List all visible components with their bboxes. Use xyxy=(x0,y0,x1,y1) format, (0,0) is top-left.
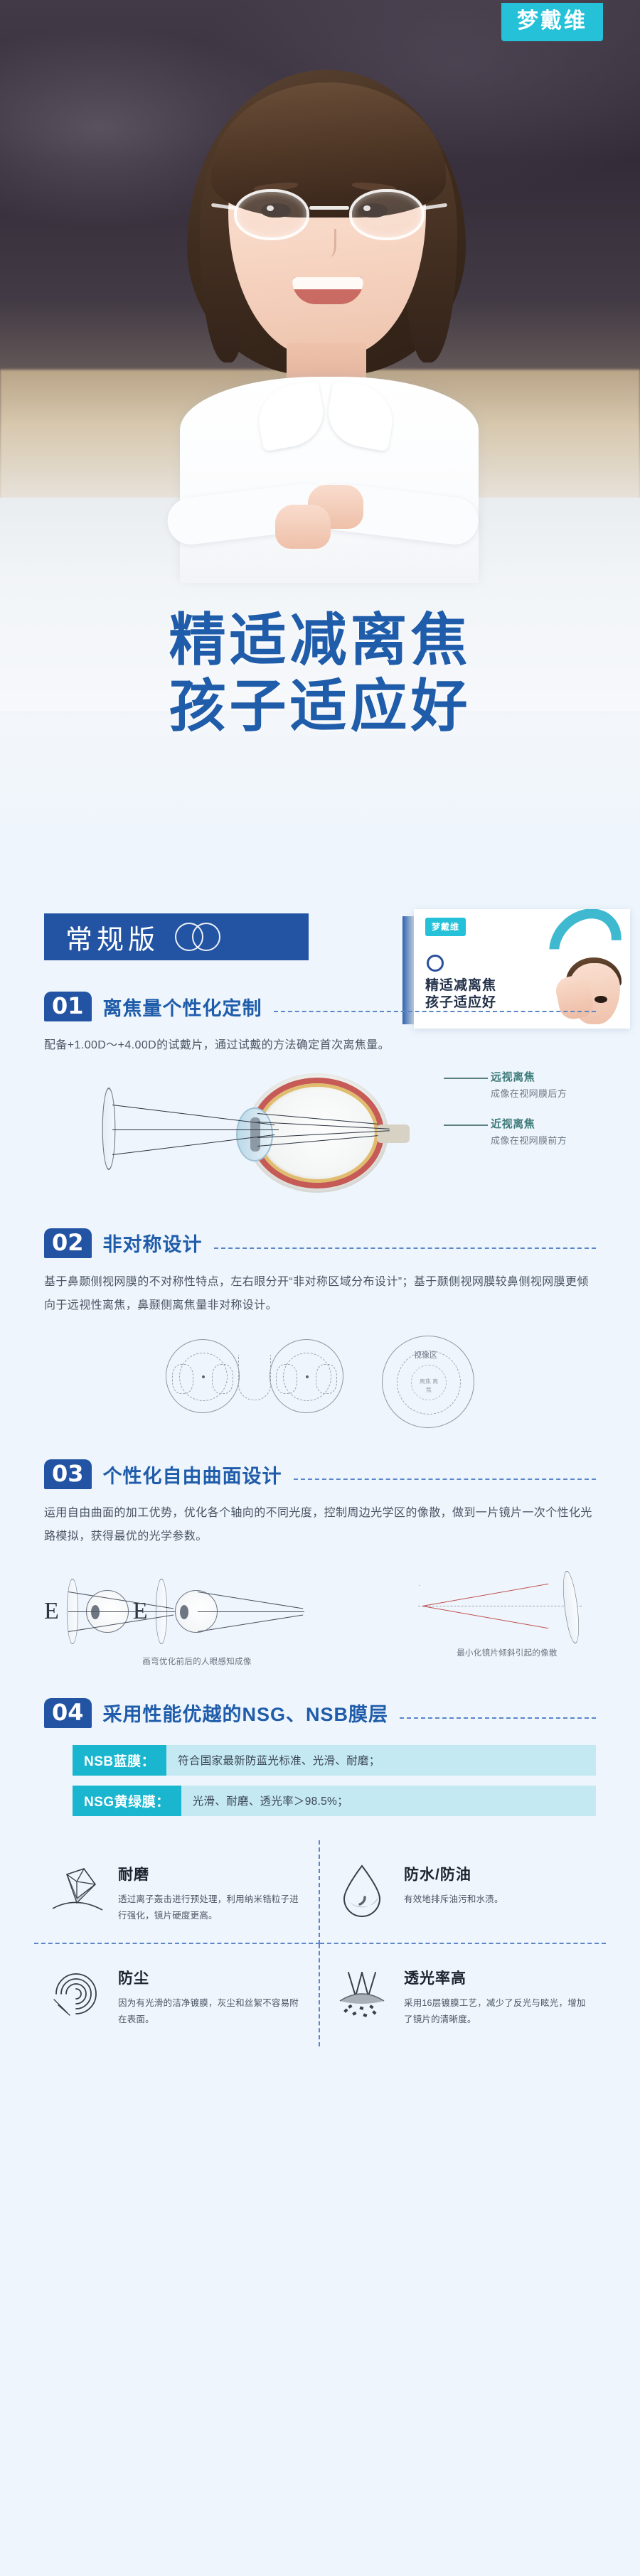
hero-child-photo xyxy=(174,64,480,576)
trial-lens-icon xyxy=(102,1088,116,1170)
section-03: 03 个性化自由曲面设计 运用自由曲面的加工优势，优化各个轴向的不同光度，控制周… xyxy=(44,1459,596,1667)
box-brand-logo-text: 梦戴维 xyxy=(432,922,459,932)
section-03-body: 运用自由曲面的加工优势，优化各个轴向的不同光度，控制周边光学区的像散，做到一片镜… xyxy=(44,1502,596,1549)
feature-title-dustproof: 防尘 xyxy=(118,1967,307,1988)
light-transmission-icon xyxy=(331,1963,393,2024)
film-value-nsb: 符合国家最新防蓝光标准、光滑、耐磨； xyxy=(166,1745,596,1776)
feature-cell-transmission: 透光率高 采用16层镀膜工艺，减少了反光与眩光，增加了镜片的清晰度。 xyxy=(320,1944,606,2046)
hero-title-line2: 孩子适应好 xyxy=(0,674,640,740)
feature-desc-dustproof: 因为有光滑的洁净镀膜，灰尘和丝絮不容易附在表面。 xyxy=(118,1995,307,2028)
freeform-caption-left: 画弯优化前后的人眼感知成像 xyxy=(44,1655,350,1667)
water-drop-icon xyxy=(331,1859,393,1920)
divider-dashed xyxy=(294,1478,596,1480)
section-04: 04 采用性能优越的NSG、NSB膜层 NSB蓝膜： 符合国家最新防蓝光标准、光… xyxy=(44,1698,596,1816)
feature-title-abrasion: 耐磨 xyxy=(118,1863,307,1884)
feature-desc-transmission: 采用16层镀膜工艺，减少了反光与眩光，增加了镜片的清晰度。 xyxy=(404,1995,594,2028)
section-03-number: 03 xyxy=(44,1459,92,1489)
label-hyperopic-defocus: 远视离焦 成像在视网膜后方 xyxy=(491,1069,567,1100)
feature-cell-dustproof: 防尘 因为有光滑的洁净镀膜，灰尘和丝絮不容易附在表面。 xyxy=(34,1944,320,2046)
section-02-head: 02 非对称设计 xyxy=(44,1228,596,1258)
hyperopic-defocus-title: 远视离焦 xyxy=(491,1069,567,1084)
diamond-icon xyxy=(46,1859,107,1920)
brand-logo: 梦戴维 xyxy=(501,3,603,41)
content-area: 常规版 梦戴维 精适减离焦 孩子适应好 xyxy=(0,913,640,2054)
hero-title: 精适减离焦 孩子适应好 xyxy=(0,608,640,740)
version-label: 常规版 xyxy=(65,918,159,957)
overlapping-lens-icon xyxy=(175,923,222,951)
eye-focus-diagram: 远视离焦 成像在视网膜后方 近视离焦 成像在视网膜前方 xyxy=(44,1062,596,1197)
spectacle-zones-icon xyxy=(166,1339,343,1424)
eyeglasses-icon xyxy=(234,189,425,240)
film-value-nsg: 光滑、耐磨、透光率＞98.5%； xyxy=(181,1786,596,1816)
hero-title-line1: 精适减离焦 xyxy=(0,608,640,674)
section-01: 01 离焦量个性化定制 配备+1.00D～+4.00D的试戴片，通过试戴的方法确… xyxy=(44,992,596,1197)
dust-fingerprint-icon xyxy=(46,1963,107,2024)
section-01-number: 01 xyxy=(44,992,92,1021)
section-01-head: 01 离焦量个性化定制 xyxy=(44,992,596,1021)
freeform-design-diagram: E E 画弯优化前后的人眼感知成像 xyxy=(44,1569,596,1667)
film-key-nsb: NSB蓝膜： xyxy=(73,1745,166,1776)
section-01-title: 离焦量个性化定制 xyxy=(103,993,262,1021)
box-ring-decor xyxy=(427,955,444,972)
feature-desc-waterproof: 有效地排斥油污和水渍。 xyxy=(404,1891,503,1908)
section-02-number: 02 xyxy=(44,1228,92,1258)
section-04-title: 采用性能优越的NSG、NSB膜层 xyxy=(103,1699,389,1727)
divider-dashed xyxy=(214,1247,596,1249)
section-03-head: 03 个性化自由曲面设计 xyxy=(44,1459,596,1489)
product-landing-page: 梦戴维 精适减离焦 孩子适应好 常规版 梦戴维 xyxy=(0,0,640,2576)
eye-chart-letter: E xyxy=(44,1598,59,1625)
label-myopic-defocus: 近视离焦 成像在视网膜前方 xyxy=(491,1116,567,1147)
divider-dashed xyxy=(274,1011,596,1012)
hyperopic-defocus-sub: 成像在视网膜后方 xyxy=(491,1086,567,1100)
eyeball-illustration xyxy=(246,1073,388,1193)
asymmetric-design-diagram: 视像区 离焦 离焦 xyxy=(44,1336,596,1428)
feature-cell-abrasion: 耐磨 透过离子轰击进行预处理，利用纳米锆粒子进行强化，镜片硬度更高。 xyxy=(34,1840,320,1944)
film-row-nsg: NSG黄绿膜： 光滑、耐磨、透光率＞98.5%； xyxy=(44,1786,596,1816)
feature-cell-waterproof: 防水/防油 有效地排斥油污和水渍。 xyxy=(320,1840,606,1944)
section-02-title: 非对称设计 xyxy=(103,1229,203,1257)
optical-zone-detail-icon: 视像区 离焦 离焦 xyxy=(382,1336,474,1428)
section-03-title: 个性化自由曲面设计 xyxy=(103,1461,282,1488)
feature-title-waterproof: 防水/防油 xyxy=(404,1863,503,1884)
feature-title-transmission: 透光率高 xyxy=(404,1967,594,1988)
freeform-caption-right: 最小化镜片倾斜引起的像散 xyxy=(418,1647,596,1658)
zone-sub-label: 离焦 离焦 xyxy=(417,1378,441,1395)
feature-grid: 耐磨 透过离子轰击进行预处理，利用纳米锆粒子进行强化，镜片硬度更高。 防水/防油… xyxy=(34,1840,606,2047)
brand-logo-text: 梦戴维 xyxy=(517,11,587,32)
version-band: 常规版 xyxy=(44,913,309,960)
divider-dashed xyxy=(400,1717,596,1719)
myopic-defocus-title: 近视离焦 xyxy=(491,1116,567,1131)
box-brand-logo: 梦戴维 xyxy=(425,918,466,936)
section-02: 02 非对称设计 基于鼻颞侧视网膜的不对称性特点，左右眼分开“非对称区域分布设计… xyxy=(44,1228,596,1429)
section-02-body: 基于鼻颞侧视网膜的不对称性特点，左右眼分开“非对称区域分布设计”；基于颞侧视网膜… xyxy=(44,1271,596,1318)
tilt-astigmatism-icon: · xyxy=(418,1569,589,1646)
section-04-head: 04 采用性能优越的NSG、NSB膜层 xyxy=(44,1698,596,1728)
section-04-number: 04 xyxy=(44,1698,92,1728)
film-row-nsb: NSB蓝膜： 符合国家最新防蓝光标准、光滑、耐磨； xyxy=(44,1745,596,1776)
film-key-nsg: NSG黄绿膜： xyxy=(73,1786,181,1816)
film-layer-list: NSB蓝膜： 符合国家最新防蓝光标准、光滑、耐磨； NSG黄绿膜： 光滑、耐磨、… xyxy=(44,1745,596,1816)
zone-label: 视像区 xyxy=(414,1349,437,1361)
feature-desc-abrasion: 透过离子轰击进行预处理，利用纳米锆粒子进行强化，镜片硬度更高。 xyxy=(118,1891,307,1924)
section-01-body: 配备+1.00D～+4.00D的试戴片，通过试戴的方法确定首次离焦量。 xyxy=(44,1034,596,1058)
hero-banner: 梦戴维 精适减离焦 孩子适应好 xyxy=(0,0,640,864)
myopic-defocus-sub: 成像在视网膜前方 xyxy=(491,1133,567,1147)
